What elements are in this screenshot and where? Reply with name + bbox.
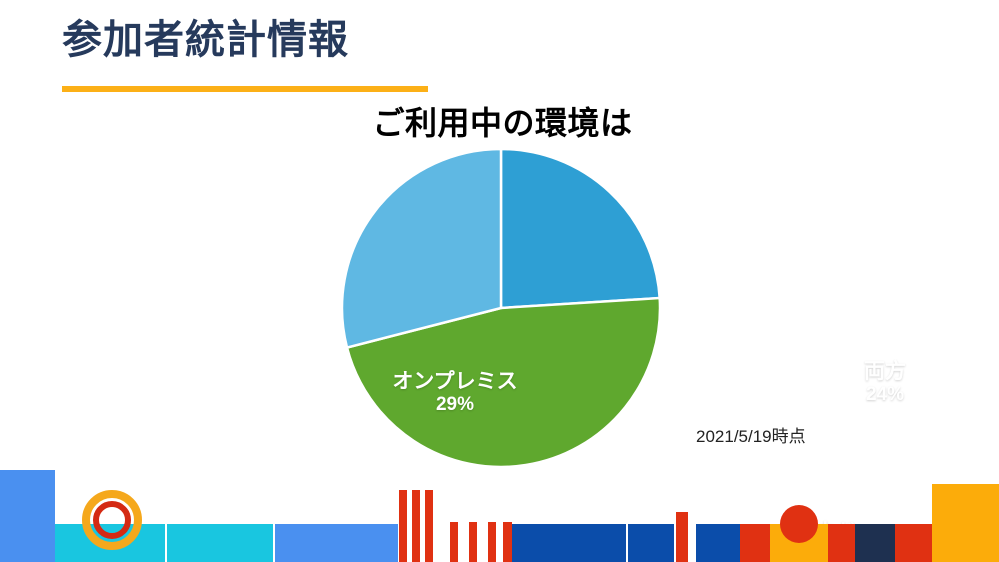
pie-label-both-value: 24% (820, 384, 950, 405)
deco-red-bar-4 (450, 522, 458, 562)
pie-chart: オンプレミス 29% 両方 24% クラウド 47% (315, 148, 687, 468)
pie-label-onpremise-value: 29% (365, 394, 545, 415)
footer-decoration (0, 460, 999, 562)
deco-blue-dark-3 (696, 524, 740, 562)
deco-ring-red-inner (93, 501, 131, 539)
title-underline-rule (62, 86, 428, 92)
pie-label-onpremise: オンプレミス 29% (365, 370, 545, 415)
chart-title-text: ご利用中の環境は (372, 98, 632, 144)
deco-blue-tall-left (0, 470, 55, 562)
deco-red-bar-1 (399, 490, 407, 562)
deco-blue-c (275, 524, 398, 562)
pie-chart-svg (315, 148, 687, 468)
deco-blue-dark-2 (628, 524, 674, 562)
page-title: 参加者統計情報 (62, 16, 349, 64)
slide-canvas: 参加者統計情報 ご利用中の環境は オンプレミス 29% 両方 24% クラウド … (0, 0, 999, 562)
deco-navy-block (855, 524, 895, 562)
pie-slice-0 (501, 149, 660, 308)
pie-label-both: 両方 24% (820, 360, 950, 405)
deco-red-bar-6 (488, 522, 496, 562)
deco-dot-red (780, 505, 818, 543)
deco-red-block-1 (740, 524, 770, 562)
deco-red-block-2 (828, 524, 855, 562)
deco-orange-tall (932, 484, 999, 562)
deco-red-bar-2 (412, 490, 420, 562)
deco-red-block-3 (895, 524, 932, 562)
chart-title: ご利用中の環境は (0, 98, 999, 144)
pie-slice-group (342, 149, 660, 467)
pie-label-onpremise-name: オンプレミス (365, 370, 545, 394)
deco-red-bar-7 (503, 522, 512, 562)
pie-label-both-name: 両方 (820, 360, 950, 384)
deco-red-bar-5 (469, 522, 477, 562)
deco-blue-dark-1 (512, 524, 626, 562)
deco-red-bar-8 (676, 512, 688, 562)
deco-cyan-b (167, 524, 273, 562)
deco-red-bar-3 (425, 490, 433, 562)
as-of-date-note: 2021/5/19時点 (696, 422, 806, 447)
